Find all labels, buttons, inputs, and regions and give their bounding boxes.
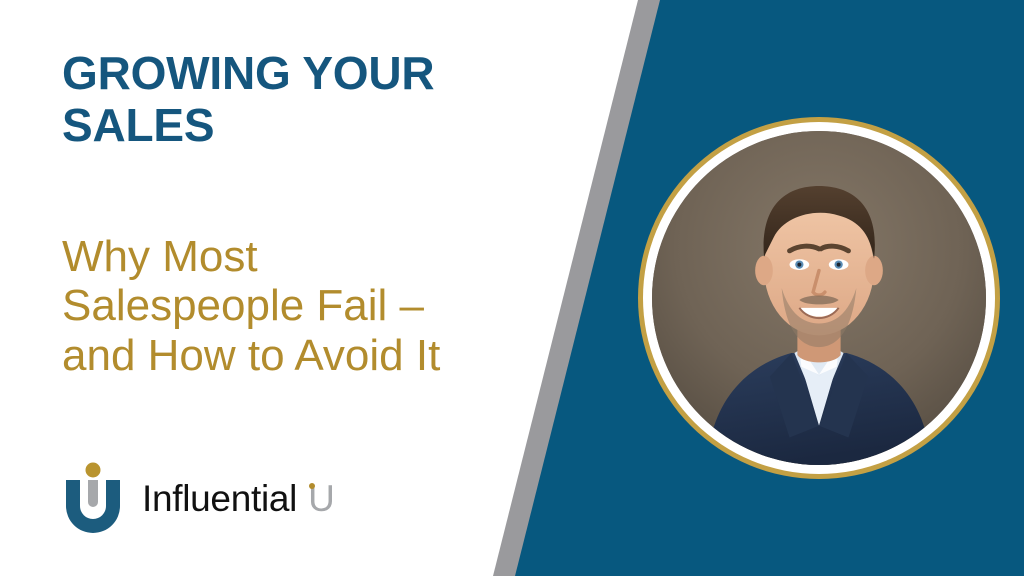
slide-subheadline: Why Most Salespeople Fail – and How to A… (62, 232, 542, 380)
brand-name-primary-text: Influential (142, 478, 297, 519)
presentation-slide: GROWING YOUR SALES Why Most Salespeople … (0, 0, 1024, 576)
brand-name-primary: Influential (142, 480, 297, 517)
slide-headline: GROWING YOUR SALES (62, 48, 532, 151)
brand-logo-lockup: Influential U (62, 462, 335, 534)
gold-i-dot-icon (309, 483, 315, 489)
influential-u-logo-mark-icon (62, 462, 124, 534)
speaker-portrait-photo (652, 131, 986, 465)
text-column: GROWING YOUR SALES Why Most Salespeople … (62, 0, 532, 576)
portrait-white-ring (643, 122, 995, 474)
brand-wordmark: Influential U (142, 480, 335, 517)
portrait-gold-ring (638, 117, 1000, 479)
